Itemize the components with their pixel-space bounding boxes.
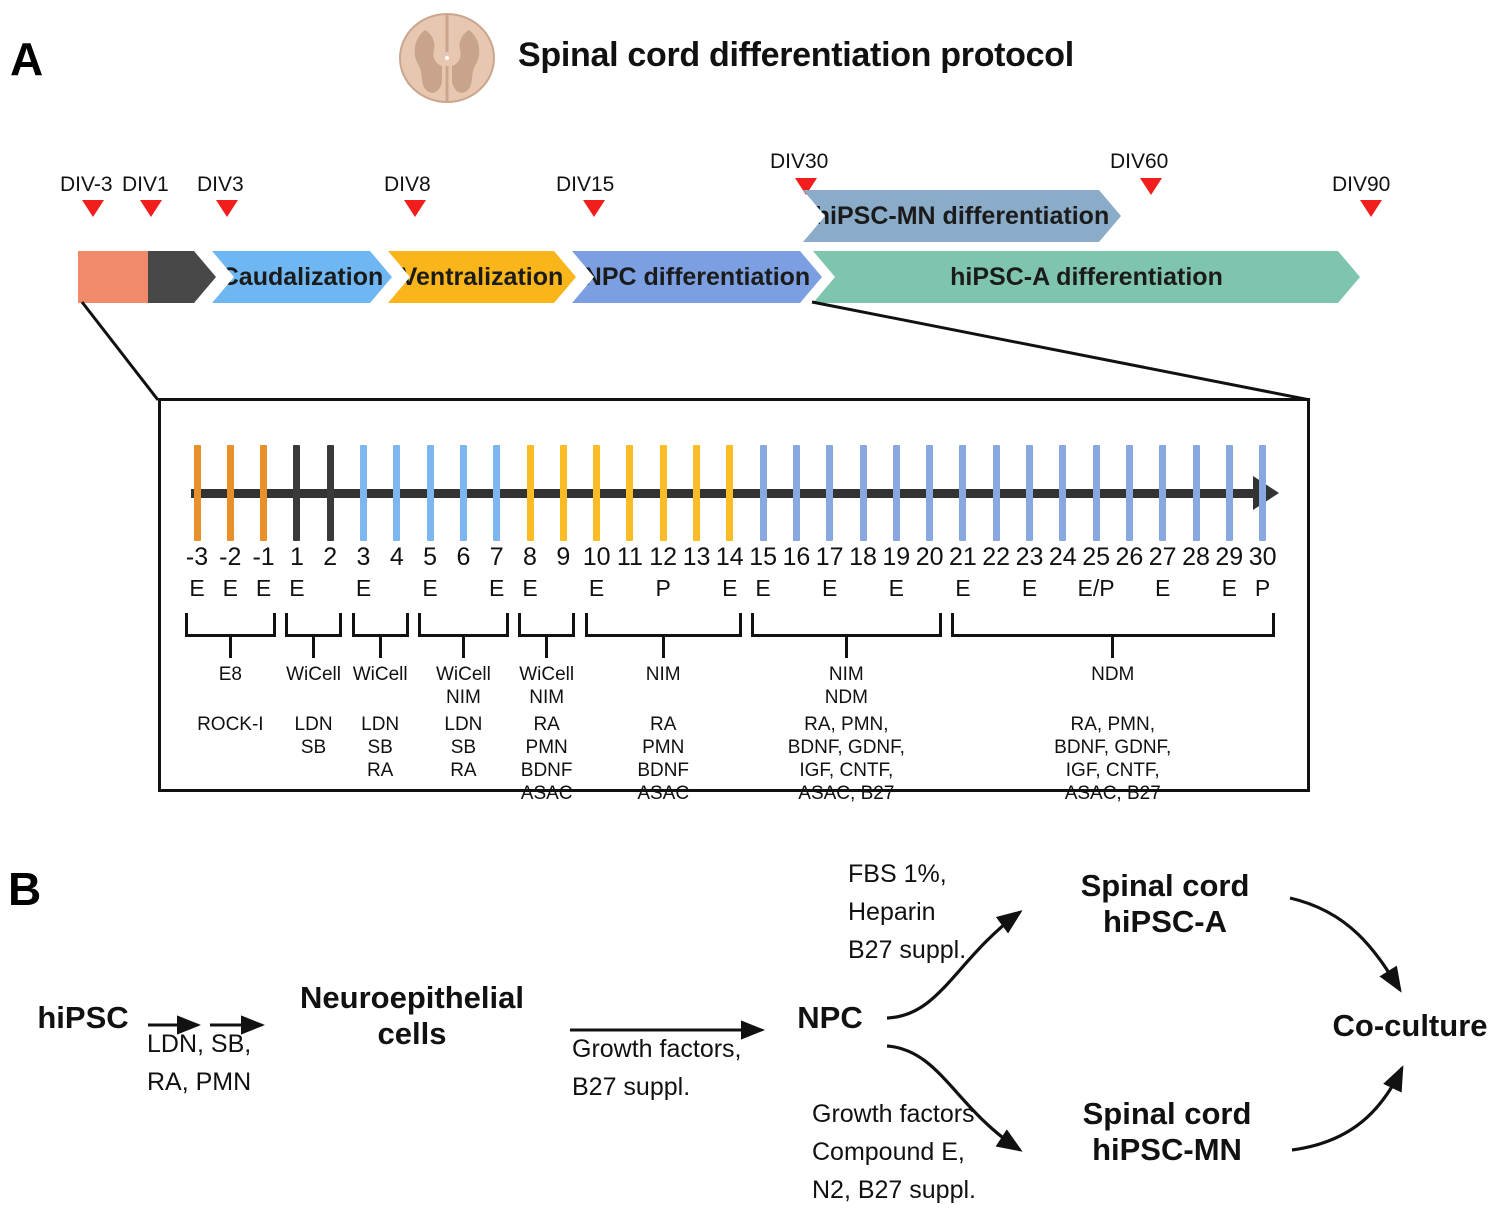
brace-group-2 [352, 613, 409, 637]
stage-hipsc-mn-differentiation: hiPSC-MN differentiation [803, 190, 1121, 242]
brace-factors-label-7: RA, PMN, BDNF, GDNF, IGF, CNTF, ASAC, B2… [1028, 713, 1198, 805]
timeline-tick-day-3 [360, 445, 367, 541]
div-marker-triangle-div3 [216, 200, 238, 217]
timeline-tick-day--1 [260, 445, 267, 541]
div-marker-label-div90: DIV90 [1332, 173, 1390, 197]
timeline-tick-day-5 [427, 445, 434, 541]
timeline-tick-day-22 [993, 445, 1000, 541]
timeline-ep-day-21: E [939, 575, 987, 602]
div-marker-triangle-div60 [1140, 178, 1162, 195]
brace-group-5 [585, 613, 742, 637]
timeline-tick-day-4 [393, 445, 400, 541]
stage-hipsc-mn-label: hiPSC-MN differentiation [815, 202, 1109, 231]
brace-group-0 [185, 613, 276, 637]
div-marker-label-div3: DIV3 [197, 173, 244, 197]
timeline-ep-day-1: E [273, 575, 321, 602]
timeline-tick-day-12 [660, 445, 667, 541]
div-marker-triangle-div1 [140, 200, 162, 217]
brace-factors-label-5: RA PMN BDNF ASAC [578, 713, 748, 805]
timeline-tick-day-2 [327, 445, 334, 541]
timeline-tick-day-1 [293, 445, 300, 541]
timeline-tick-day-7 [493, 445, 500, 541]
page-title: Spinal cord differentiation protocol [518, 36, 1074, 75]
div-marker-label-div-3: DIV-3 [60, 173, 113, 197]
timeline-tick-day--3 [194, 445, 201, 541]
brace-group-7 [951, 613, 1275, 637]
div-marker-label-div8: DIV8 [384, 173, 431, 197]
brace-stem-2 [379, 636, 382, 658]
timeline-ep-day-5: E [406, 575, 454, 602]
div-marker-triangle-div8 [404, 200, 426, 217]
timeline-ep-day-15: E [739, 575, 787, 602]
timeline-tick-day-21 [959, 445, 966, 541]
timeline-tick-day-17 [826, 445, 833, 541]
timeline-tick-day-28 [1193, 445, 1200, 541]
timeline-tick-day-24 [1059, 445, 1066, 541]
brace-stem-3 [462, 636, 465, 658]
brace-media-label-5: NIM [588, 663, 738, 686]
callout-connectors [0, 290, 1400, 410]
timeline-tick-day-13 [693, 445, 700, 541]
timeline-tick-day-11 [626, 445, 633, 541]
timeline-ep-day-30: P [1239, 575, 1287, 602]
flow-arrows [0, 850, 1500, 1231]
timeline-tick-day-10 [593, 445, 600, 541]
timeline-tick-day-6 [460, 445, 467, 541]
timeline-ep-day-8: E [506, 575, 554, 602]
div-marker-label-div15: DIV15 [556, 173, 614, 197]
timeline-tick-day-23 [1026, 445, 1033, 541]
brace-stem-7 [1111, 636, 1114, 658]
timeline-ep-day-12: P [639, 575, 687, 602]
detail-timeline-box: -3-2-11234567891011121314151617181920212… [158, 398, 1310, 792]
timeline-tick-day-20 [926, 445, 933, 541]
div-marker-triangle-div-3 [82, 200, 104, 217]
brace-stem-0 [229, 636, 232, 658]
timeline-ep-day-19: E [872, 575, 920, 602]
timeline-day-number-30: 30 [1241, 543, 1285, 572]
div-marker-triangle-div90 [1360, 200, 1382, 217]
stage-caudalization-label: Caudalization [221, 263, 384, 292]
timeline-tick-day-18 [860, 445, 867, 541]
brace-stem-6 [845, 636, 848, 658]
div-marker-label-div30: DIV30 [770, 150, 828, 174]
timeline-tick-day-8 [527, 445, 534, 541]
timeline-tick-day-30 [1259, 445, 1266, 541]
timeline-tick-day-16 [793, 445, 800, 541]
timeline-ep-day-3: E [340, 575, 388, 602]
brace-group-4 [518, 613, 575, 637]
timeline-tick-day-25 [1093, 445, 1100, 541]
stage-npc-differentiation-label: NPC differentiation [584, 263, 810, 292]
timeline-ep-day-17: E [806, 575, 854, 602]
stage-ventralization-label: Ventralization [401, 263, 564, 292]
timeline-tick-day-19 [893, 445, 900, 541]
brace-group-1 [285, 613, 342, 637]
brace-group-6 [751, 613, 942, 637]
spinal-cord-cross-section-icon [392, 8, 502, 108]
timeline-tick-day--2 [227, 445, 234, 541]
panel-a-letter: A [10, 32, 43, 86]
timeline-ep-day-25: E/P [1072, 575, 1120, 602]
brace-media-label-7: NDM [1038, 663, 1188, 686]
div-marker-triangle-div15 [583, 200, 605, 217]
timeline-ep-day-23: E [1006, 575, 1054, 602]
brace-stem-1 [312, 636, 315, 658]
timeline-tick-day-29 [1226, 445, 1233, 541]
div-marker-label-div60: DIV60 [1110, 150, 1168, 174]
timeline-tick-day-27 [1159, 445, 1166, 541]
timeline-ep-day-10: E [573, 575, 621, 602]
brace-group-3 [418, 613, 509, 637]
brace-media-label-6: NIM NDM [771, 663, 921, 709]
stage-hipsc-a-label: hiPSC-A differentiation [950, 263, 1223, 292]
timeline-tick-day-26 [1126, 445, 1133, 541]
brace-stem-5 [662, 636, 665, 658]
timeline-tick-day-15 [760, 445, 767, 541]
timeline-tick-day-9 [560, 445, 567, 541]
timeline-ep-day-27: E [1139, 575, 1187, 602]
brace-factors-label-6: RA, PMN, BDNF, GDNF, IGF, CNTF, ASAC, B2… [761, 713, 931, 805]
div-marker-label-div1: DIV1 [122, 173, 169, 197]
brace-stem-4 [545, 636, 548, 658]
timeline-tick-day-14 [726, 445, 733, 541]
